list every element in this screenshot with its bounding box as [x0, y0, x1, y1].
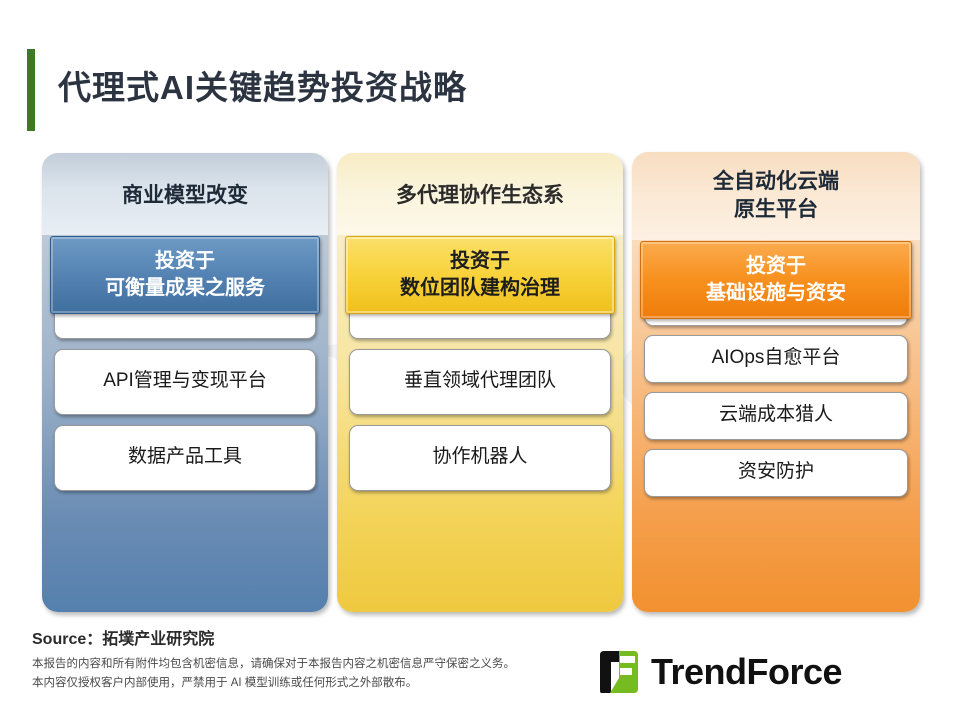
source-line: Source：拓墣产业研究院 — [32, 625, 214, 649]
list-item[interactable]: 协作机器人 — [349, 425, 611, 491]
list-item[interactable]: 资安防护 — [644, 449, 908, 497]
invest-banner: 投资于 可衡量成果之服务 — [50, 236, 320, 314]
list-item[interactable]: 云端成本猎人 — [644, 392, 908, 440]
column-header-line-1: 全自动化云端 — [713, 170, 839, 193]
column-header-line-2: 原生平台 — [734, 198, 818, 221]
list-item[interactable]: 数据产品工具 — [54, 425, 316, 491]
invest-banner: 投资于 数位团队建构治理 — [345, 236, 615, 314]
column-header: 商业模型改变 — [42, 153, 328, 235]
banner-line-2: 数位团队建构治理 — [400, 275, 560, 302]
strategy-column-business-model: 商业模型改变 投资目标： Agent Marketplace订阅 API管理与变… — [42, 153, 328, 612]
page-title: 代理式AI关键趋势投资战略 — [58, 61, 467, 109]
title-accent-bar — [27, 49, 35, 131]
list-item[interactable]: 垂直领域代理团队 — [349, 349, 611, 415]
column-header: 多代理协作生态系 — [337, 153, 623, 235]
banner-line-2: 基础设施与资安 — [706, 280, 846, 307]
column-header: 全自动化云端 原生平台 — [632, 152, 920, 240]
strategy-column-cloud-native: 全自动化云端 原生平台 投资目标： Agent Runtime环境 AIOps自… — [632, 152, 920, 612]
list-item[interactable]: AIOps自愈平台 — [644, 335, 908, 383]
disclaimer-line-1: 本报告的内容和所有附件均包含机密信息，请确保对于本报告内容之机密信息严守保密之义… — [32, 655, 515, 674]
list-item[interactable]: API管理与变现平台 — [54, 349, 316, 415]
trendforce-logo-mark-icon — [596, 650, 642, 694]
invest-banner: 投资于 基础设施与资安 — [640, 241, 912, 319]
banner-line-2: 可衡量成果之服务 — [105, 275, 265, 302]
slide-canvas: TrendForce 代理式AI关键趋势投资战略 商业模型改变 投资目标： Ag… — [0, 0, 960, 720]
disclaimer-text: 本报告的内容和所有附件均包含机密信息，请确保对于本报告内容之机密信息严守保密之义… — [32, 655, 515, 693]
trendforce-logo-text: TrendForce — [651, 654, 842, 690]
strategy-column-multi-agent: 多代理协作生态系 投资目标： 多代理协作框架 垂直领域代理团队 协作机器人 投资… — [337, 153, 623, 612]
banner-line-1: 投资于 — [450, 248, 510, 275]
banner-line-1: 投资于 — [155, 248, 215, 275]
logo-glyph-icon — [596, 650, 642, 694]
trendforce-logo: TrendForce — [596, 648, 936, 696]
disclaimer-line-2: 本内容仅授权客户内部使用，严禁用于 AI 模型训练或任何形式之外部散布。 — [32, 674, 515, 693]
banner-line-1: 投资于 — [746, 253, 806, 280]
